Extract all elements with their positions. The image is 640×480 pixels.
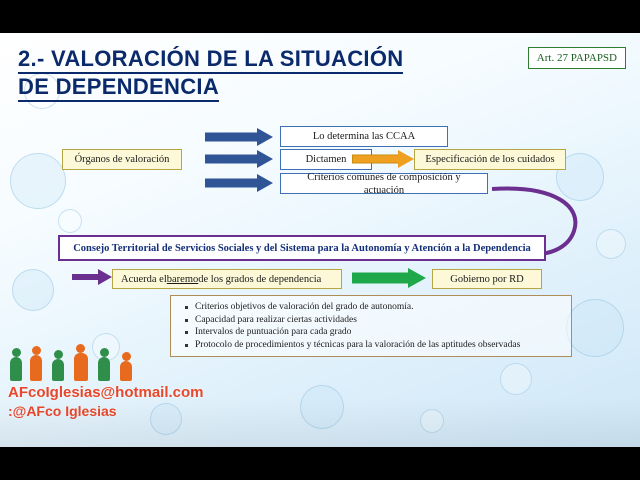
bubble-decoration xyxy=(300,385,344,429)
people-silhouettes xyxy=(6,345,166,381)
box-acuerda-baremo: Acuerda el baremo de los grados de depen… xyxy=(112,269,342,289)
criterios-list: Criterios objetivos de valoración del gr… xyxy=(181,301,565,351)
box-criterios-lista: Criterios objetivos de valoración del gr… xyxy=(170,295,572,357)
arrow-right-blue xyxy=(205,128,273,146)
bubble-decoration xyxy=(58,209,82,233)
slide-title: 2.- VALORACIÓN DE LA SITUACIÓN DE DEPEND… xyxy=(18,45,478,101)
acuerda-text-pre: Acuerda el xyxy=(121,273,167,286)
slide-title-line2: DE DEPENDENCIA xyxy=(18,74,219,102)
arrow-right-blue xyxy=(205,150,273,168)
box-criterios-comunes: Criterios comunes de composición y actua… xyxy=(280,173,488,194)
arrow-right-purple xyxy=(72,269,112,285)
box-especificacion-cuidados: Especificación de los cuidados xyxy=(414,149,566,170)
bubble-decoration xyxy=(566,299,624,357)
acuerda-text-baremo: baremo xyxy=(167,273,199,286)
bubble-decoration xyxy=(12,269,54,311)
slide-canvas: 2.- VALORACIÓN DE LA SITUACIÓN DE DEPEND… xyxy=(0,33,640,447)
slide-title-line1: 2.- VALORACIÓN DE LA SITUACIÓN xyxy=(18,46,403,74)
arrow-right-orange xyxy=(348,150,414,168)
box-consejo-territorial: Consejo Territorial de Servicios Sociale… xyxy=(58,235,546,261)
box-gobierno-rd: Gobierno por RD xyxy=(432,269,542,289)
contact-info: AFcoIglesias@hotmail.com :@AFco Iglesias xyxy=(8,383,204,421)
bubble-decoration xyxy=(596,229,626,259)
list-item: Protocolo de procedimientos y técnicas p… xyxy=(195,339,565,352)
acuerda-text-post: de los grados de dependencia xyxy=(198,273,321,286)
bubble-decoration xyxy=(420,409,444,433)
contact-email: AFcoIglesias@hotmail.com xyxy=(8,383,204,402)
list-item: Intervalos de puntuación para cada grado xyxy=(195,326,565,339)
list-item: Capacidad para realizar ciertas activida… xyxy=(195,314,565,327)
contact-twitter: @AFco Iglesias xyxy=(13,403,117,419)
arrow-right-blue xyxy=(205,174,273,192)
bubble-decoration xyxy=(10,153,66,209)
contact-twitter-row: :@AFco Iglesias xyxy=(8,402,204,421)
bubble-decoration xyxy=(500,363,532,395)
list-item: Criterios objetivos de valoración del gr… xyxy=(195,301,565,314)
box-organos-valoracion: Órganos de valoración xyxy=(62,149,182,170)
arrow-right-green xyxy=(352,269,430,287)
article-badge: Art. 27 PAPAPSD xyxy=(528,47,626,69)
video-frame: 2.- VALORACIÓN DE LA SITUACIÓN DE DEPEND… xyxy=(0,0,640,480)
box-lo-determina-ccaa: Lo determina las CCAA xyxy=(280,126,448,147)
